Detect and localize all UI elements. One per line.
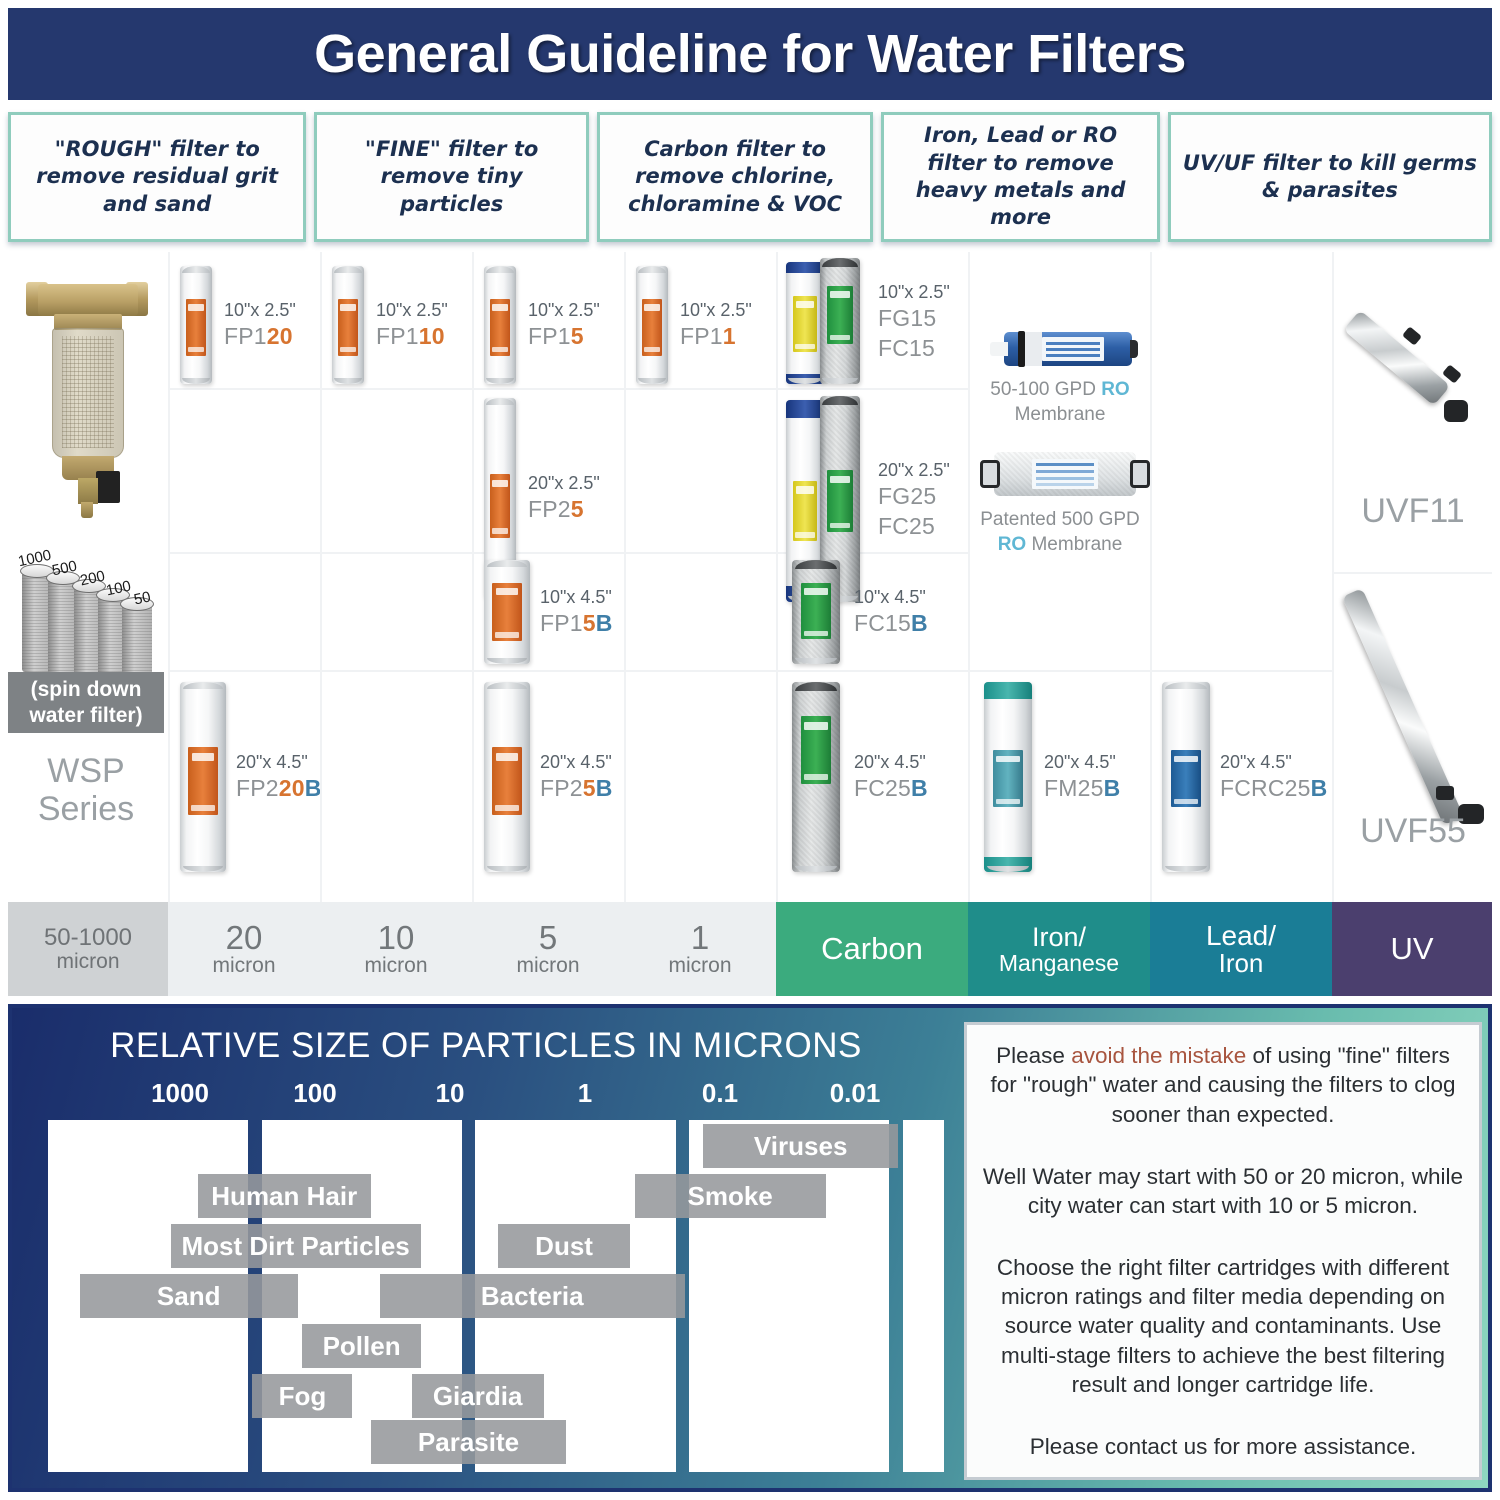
advice-paragraph-2: Well Water may start with 50 or 20 micro… bbox=[981, 1162, 1465, 1221]
chart-band-3 bbox=[689, 1120, 889, 1472]
flush-valve bbox=[96, 471, 120, 503]
advice-info-box: Please avoid the mistake of using "fine"… bbox=[964, 1022, 1482, 1480]
product-code-fp120: FP120 bbox=[224, 322, 296, 351]
micron-cell-uv: UV bbox=[1332, 902, 1492, 996]
product-size-fcrc25b: 20"x 4.5" bbox=[1220, 751, 1327, 774]
advice-paragraph-4: Please contact us for more assistance. bbox=[981, 1432, 1465, 1461]
micron-scale-axis: 1000 100 10 1 0.1 0.01 bbox=[36, 1078, 936, 1114]
product-size-fp11: 10"x 2.5" bbox=[680, 299, 752, 322]
product-size-fp25b: 20"x 4.5" bbox=[540, 751, 613, 774]
axis-tick-0.1: 0.1 bbox=[702, 1078, 738, 1109]
product-code-fp25: FP25 bbox=[528, 495, 600, 524]
ro-membrane-small-image bbox=[990, 332, 1138, 366]
spin-down-caption: (spin down water filter) bbox=[8, 672, 164, 733]
micron-cell-iron: Iron/Manganese bbox=[968, 902, 1150, 996]
product-fp220b: 20"x 4.5" FP220B bbox=[180, 682, 322, 872]
ro-membrane-large-image bbox=[980, 452, 1150, 496]
brass-head bbox=[38, 284, 138, 316]
particle-bar-giardia: Giardia bbox=[412, 1374, 544, 1418]
particle-bar-bacteria: Bacteria bbox=[380, 1274, 685, 1318]
axis-tick-10: 10 bbox=[436, 1078, 465, 1109]
category-box-carbon: Carbon filter to remove chlorine, chlora… bbox=[597, 112, 873, 242]
infographic-page: General Guideline for Water Filters "ROU… bbox=[0, 0, 1500, 1500]
wsp-series-title: WSP Series bbox=[8, 752, 164, 828]
category-label-uvuf: UV/UF filter to kill germs & parasites bbox=[1179, 150, 1481, 205]
axis-tick-1000: 1000 bbox=[151, 1078, 209, 1109]
cartridge-fp11 bbox=[636, 266, 668, 384]
uv-sterilizer-uvf55-image bbox=[1358, 588, 1470, 848]
product-size-fg25: 20"x 2.5" bbox=[878, 459, 950, 482]
title-bar: General Guideline for Water Filters bbox=[8, 8, 1492, 100]
product-code-fm25b: FM25B bbox=[1044, 774, 1120, 803]
cartridge-fp120 bbox=[180, 266, 212, 384]
cartridge-fm25b bbox=[984, 682, 1032, 872]
product-size-fc25b: 20"x 4.5" bbox=[854, 751, 928, 774]
grid-column-1micron: 10"x 2.5" FP11 bbox=[624, 252, 776, 902]
category-box-fine: "FINE" filter to remove tiny particles bbox=[314, 112, 589, 242]
product-fp110: 10"x 2.5" FP110 bbox=[332, 266, 448, 384]
uv-sterilizer-uvf11-image bbox=[1358, 294, 1470, 416]
page-title: General Guideline for Water Filters bbox=[314, 23, 1186, 85]
product-fm25b: 20"x 4.5" FM25B bbox=[984, 682, 1120, 872]
product-code-fp110: FP110 bbox=[376, 322, 448, 351]
product-fp11: 10"x 2.5" FP11 bbox=[636, 266, 752, 384]
product-code-fp220b: FP220B bbox=[236, 774, 322, 803]
ro-large-caption-line2: RO Membrane bbox=[970, 533, 1150, 558]
cartridge-fp220b bbox=[180, 682, 226, 872]
advice-paragraph-1: Please avoid the mistake of using "fine"… bbox=[981, 1041, 1465, 1129]
uv-model-uvf55: UVF55 bbox=[1334, 812, 1492, 851]
ro-large-caption: Patented 500 GPD RO Membrane bbox=[970, 508, 1150, 557]
particle-bar-human-hair: Human Hair bbox=[198, 1174, 371, 1218]
axis-tick-0.01: 0.01 bbox=[830, 1078, 881, 1109]
cartridge-fp15 bbox=[484, 266, 516, 384]
product-fc25b: 20"x 4.5" FC25B bbox=[792, 682, 928, 872]
product-size-fp15b: 10"x 4.5" bbox=[540, 586, 613, 609]
ro-large-caption-line1: Patented 500 GPD bbox=[970, 508, 1150, 533]
particle-size-chart: Viruses Smoke Human Hair Most Dirt Parti… bbox=[34, 1120, 944, 1472]
grid-column-lead: 20"x 4.5" FCRC25B bbox=[1150, 252, 1332, 902]
product-code-fc25: FC25 bbox=[878, 512, 950, 541]
product-size-fc15b: 10"x 4.5" bbox=[854, 586, 928, 609]
hose-barb bbox=[81, 502, 93, 518]
cartridge-fcrc25b bbox=[1162, 682, 1210, 872]
product-size-fg15: 10"x 2.5" bbox=[878, 281, 950, 304]
category-box-uvuf: UV/UF filter to kill germs & parasites bbox=[1168, 112, 1492, 242]
axis-tick-100: 100 bbox=[293, 1078, 336, 1109]
product-code-fp15b: FP15B bbox=[540, 609, 613, 638]
product-fp15: 10"x 2.5" FP15 bbox=[484, 266, 600, 384]
category-label-rough: "ROUGH" filter to remove residual grit a… bbox=[19, 136, 295, 218]
micron-cell-10: 10micron bbox=[320, 902, 472, 996]
particle-bar-pollen: Pollen bbox=[302, 1324, 420, 1368]
product-code-fcrc25b: FCRC25B bbox=[1220, 774, 1327, 803]
wsp-micron-50: 50 bbox=[132, 588, 152, 608]
product-size-fp120: 10"x 2.5" bbox=[224, 299, 296, 322]
product-code-fg25: FG25 bbox=[878, 482, 950, 511]
product-code-fc15b: FC15B bbox=[854, 609, 928, 638]
uv-model-uvf11: UVF11 bbox=[1334, 492, 1492, 531]
particle-bar-parasite: Parasite bbox=[371, 1420, 567, 1464]
product-code-fc25b: FC25B bbox=[854, 774, 928, 803]
cartridge-fg15 bbox=[786, 262, 824, 384]
product-fp25b: 20"x 4.5" FP25B bbox=[484, 682, 613, 872]
particle-panel-title: RELATIVE SIZE OF PARTICLES IN MICRONS bbox=[36, 1026, 936, 1066]
product-size-fm25b: 20"x 4.5" bbox=[1044, 751, 1120, 774]
category-label-fine: "FINE" filter to remove tiny particles bbox=[325, 136, 578, 218]
category-box-metals: Iron, Lead or RO filter to remove heavy … bbox=[881, 112, 1159, 242]
ro-small-caption: 50-100 GPD RO Membrane bbox=[970, 378, 1150, 427]
product-code-fp15: FP15 bbox=[528, 322, 600, 351]
micron-cell-1: 1micron bbox=[624, 902, 776, 996]
grid-column-5micron: 10"x 2.5" FP15 20"x 2.5" FP25 10"x 4.5" … bbox=[472, 252, 624, 902]
cartridge-fp110 bbox=[332, 266, 364, 384]
product-size-fp110: 10"x 2.5" bbox=[376, 299, 448, 322]
product-fp15b: 10"x 4.5" FP15B bbox=[484, 560, 613, 664]
product-size-fp25: 20"x 2.5" bbox=[528, 472, 600, 495]
grid-column-carbon: 10"x 2.5" FG15 FC15 20"x 2.5" bbox=[776, 252, 968, 902]
grid-column-10micron: 10"x 2.5" FP110 bbox=[320, 252, 472, 902]
micron-cell-wsp: 50-1000micron bbox=[8, 902, 168, 996]
filter-mesh-screen bbox=[62, 336, 114, 448]
product-fp120: 10"x 2.5" FP120 bbox=[180, 266, 296, 384]
product-size-fp220b: 20"x 4.5" bbox=[236, 751, 322, 774]
product-fcrc25b: 20"x 4.5" FCRC25B bbox=[1162, 682, 1327, 872]
axis-tick-1: 1 bbox=[578, 1078, 592, 1109]
product-grid: 1000 500 200 100 50 (spin down water fil… bbox=[8, 252, 1492, 902]
category-label-metals: Iron, Lead or RO filter to remove heavy … bbox=[892, 122, 1148, 231]
particle-bar-viruses: Viruses bbox=[703, 1124, 899, 1168]
grid-column-wsp: 1000 500 200 100 50 (spin down water fil… bbox=[8, 252, 168, 902]
wsp-screen-50 bbox=[122, 605, 152, 680]
wsp-screen-stack-image: 1000 500 200 100 50 bbox=[16, 552, 166, 682]
product-code-fg15: FG15 bbox=[878, 304, 950, 333]
cartridge-fc15 bbox=[820, 258, 860, 384]
cartridge-fc25b bbox=[792, 682, 840, 872]
cartridge-fp15b bbox=[484, 560, 530, 664]
product-code-fp11: FP11 bbox=[680, 322, 752, 351]
advice-paragraph-3: Choose the right filter cartridges with … bbox=[981, 1253, 1465, 1399]
micron-legend-row: 50-1000micron 20micron 10micron 5micron … bbox=[8, 902, 1492, 996]
category-box-rough: "ROUGH" filter to remove residual grit a… bbox=[8, 112, 306, 242]
micron-cell-5: 5micron bbox=[472, 902, 624, 996]
product-fc15b: 10"x 4.5" FC15B bbox=[792, 560, 928, 664]
particle-bar-smoke: Smoke bbox=[635, 1174, 826, 1218]
filter-stem bbox=[78, 478, 98, 504]
product-fg15-fc15: 10"x 2.5" FG15 FC15 bbox=[786, 258, 950, 386]
grid-column-iron: 50-100 GPD RO Membrane Patented 500 GPD … bbox=[968, 252, 1150, 902]
product-size-fp15: 10"x 2.5" bbox=[528, 299, 600, 322]
product-code-fc15: FC15 bbox=[878, 334, 950, 363]
micron-cell-lead: Lead/Iron bbox=[1150, 902, 1332, 996]
micron-cell-20: 20micron bbox=[168, 902, 320, 996]
advice-warning-phrase: avoid the mistake bbox=[1071, 1043, 1246, 1068]
cartridge-fc15b bbox=[792, 560, 840, 664]
product-code-fp25b: FP25B bbox=[540, 774, 613, 803]
particle-bar-fog: Fog bbox=[252, 1374, 352, 1418]
cartridge-fp25b bbox=[484, 682, 530, 872]
particle-bar-most-dirt: Most Dirt Particles bbox=[171, 1224, 421, 1268]
spin-down-filter-image bbox=[26, 266, 148, 516]
category-label-carbon: Carbon filter to remove chlorine, chlora… bbox=[608, 136, 862, 218]
grid-column-uv: UVF11 UVF55 bbox=[1332, 252, 1492, 902]
particle-bar-dust: Dust bbox=[498, 1224, 630, 1268]
grid-column-20micron: 10"x 2.5" FP120 20"x 4.5" FP220B bbox=[168, 252, 320, 902]
category-header-row: "ROUGH" filter to remove residual grit a… bbox=[8, 112, 1492, 242]
micron-cell-carbon: Carbon bbox=[776, 902, 968, 996]
particle-bar-sand: Sand bbox=[80, 1274, 298, 1318]
chart-band-4 bbox=[903, 1120, 944, 1472]
particle-size-panel: RELATIVE SIZE OF PARTICLES IN MICRONS 10… bbox=[8, 1004, 1492, 1492]
